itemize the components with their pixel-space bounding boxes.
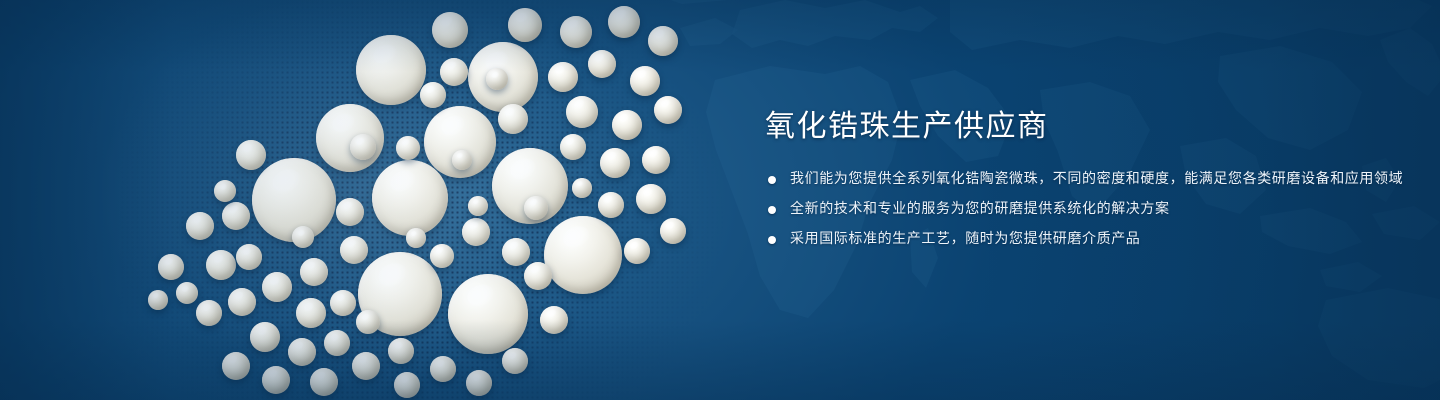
hero-banner: 氧化锆珠生产供应商 我们能为您提供全系列氧化锆陶瓷微珠，不同的密度和硬度，能满足…: [0, 0, 1440, 400]
benefit-text: 我们能为您提供全系列氧化锆陶瓷微珠，不同的密度和硬度，能满足您各类研磨设备和应用…: [790, 168, 1405, 191]
banner-content: 氧化锆珠生产供应商 我们能为您提供全系列氧化锆陶瓷微珠，不同的密度和硬度，能满足…: [765, 108, 1405, 251]
benefit-text: 全新的技术和专业的服务为您的研磨提供系统化的解决方案: [790, 198, 1405, 221]
benefit-list-item: 全新的技术和专业的服务为您的研磨提供系统化的解决方案: [765, 198, 1405, 221]
benefit-list-item: 我们能为您提供全系列氧化锆陶瓷微珠，不同的密度和硬度，能满足您各类研磨设备和应用…: [765, 168, 1405, 191]
benefit-list-item: 采用国际标准的生产工艺，随时为您提供研磨介质产品: [765, 228, 1405, 251]
bullet-dot-icon: [768, 176, 776, 184]
benefit-text: 采用国际标准的生产工艺，随时为您提供研磨介质产品: [790, 228, 1405, 251]
banner-headline: 氧化锆珠生产供应商: [765, 108, 1405, 146]
bullet-dot-icon: [768, 206, 776, 214]
benefit-list: 我们能为您提供全系列氧化锆陶瓷微珠，不同的密度和硬度，能满足您各类研磨设备和应用…: [765, 168, 1405, 251]
bullet-dot-icon: [768, 236, 776, 244]
